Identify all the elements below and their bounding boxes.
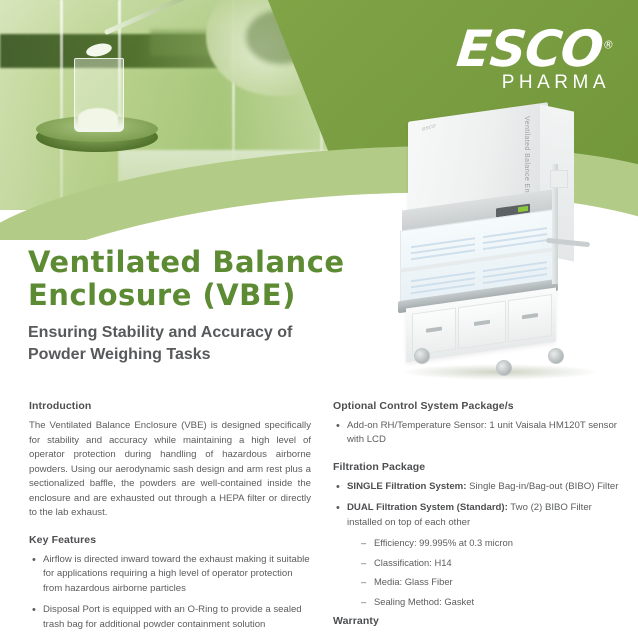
registered-trademark-icon: ® [602,38,613,51]
heading-warranty: Warranty [333,615,628,627]
product-image-vbe: esco Ventilated Balance Enclosure [400,112,610,390]
heading-introduction: Introduction [29,400,311,412]
heading-key-features: Key Features [29,534,311,546]
optional-control-list: Add-on RH/Temperature Sensor: 1 unit Vai… [333,419,628,448]
drawer-handle-icon [474,320,490,326]
filtration-spec-list: Efficiency: 99.995% at 0.3 micron Classi… [347,536,628,609]
subtitle-line-1: Ensuring Stability and Accuracy of [28,322,348,344]
title-line-1: Ventilated Balance [28,246,368,279]
introduction-paragraph: The Ventilated Balance Enclosure (VBE) i… [29,419,311,521]
page-title: Ventilated Balance Enclosure (VBE) [28,246,368,312]
product-caster [496,360,512,376]
product-esco-logo: esco [422,123,436,133]
logo-wordmark: ESCO® [454,26,614,74]
product-caster [414,348,430,364]
list-item: Disposal Port is equipped with an O-Ring… [29,603,311,632]
filtration-list: SINGLE Filtration System: Single Bag-in/… [333,480,628,609]
content-columns: Introduction The Ventilated Balance Encl… [0,400,638,639]
photo-glass-pane [60,0,63,210]
single-filtration-desc: Single Bag-in/Bag-out (BIBO) Filter [466,481,618,492]
spec-item: Efficiency: 99.995% at 0.3 micron [361,536,628,550]
product-drawer [508,294,552,342]
heading-filtration-package: Filtration Package [333,461,628,473]
product-junction-box [550,170,568,188]
drawer-handle-icon [426,326,442,332]
list-item: DUAL Filtration System (Standard): Two (… [333,501,628,608]
logo-esco-text: ESCO [454,20,605,78]
dual-filtration-label: DUAL Filtration System (Standard): [347,502,508,513]
spec-item: Sealing Method: Gasket [361,595,628,609]
subtitle-line-2: Powder Weighing Tasks [28,344,348,366]
right-column: Optional Control System Package/s Add-on… [333,400,628,634]
page-subtitle: Ensuring Stability and Accuracy of Powde… [28,322,348,366]
spec-item: Media: Glass Fiber [361,575,628,589]
list-item: Add-on RH/Temperature Sensor: 1 unit Vai… [333,419,628,448]
product-caster [548,348,564,364]
list-item: SINGLE Filtration System: Single Bag-in/… [333,480,628,494]
product-panel-indicator [518,206,528,212]
heading-optional-control-system: Optional Control System Package/s [333,400,628,412]
product-drawer [458,300,506,349]
title-line-2: Enclosure (VBE) [28,279,368,312]
key-features-list: Airflow is directed inward toward the ex… [29,553,311,632]
esco-pharma-logo: ESCO® PHARMA [457,26,612,94]
left-column: Introduction The Ventilated Balance Encl… [29,400,311,639]
spec-item: Classification: H14 [361,556,628,570]
drawer-handle-icon [522,313,538,319]
list-item: Airflow is directed inward toward the ex… [29,553,311,596]
single-filtration-label: SINGLE Filtration System: [347,481,466,492]
photo-powder [78,108,118,128]
